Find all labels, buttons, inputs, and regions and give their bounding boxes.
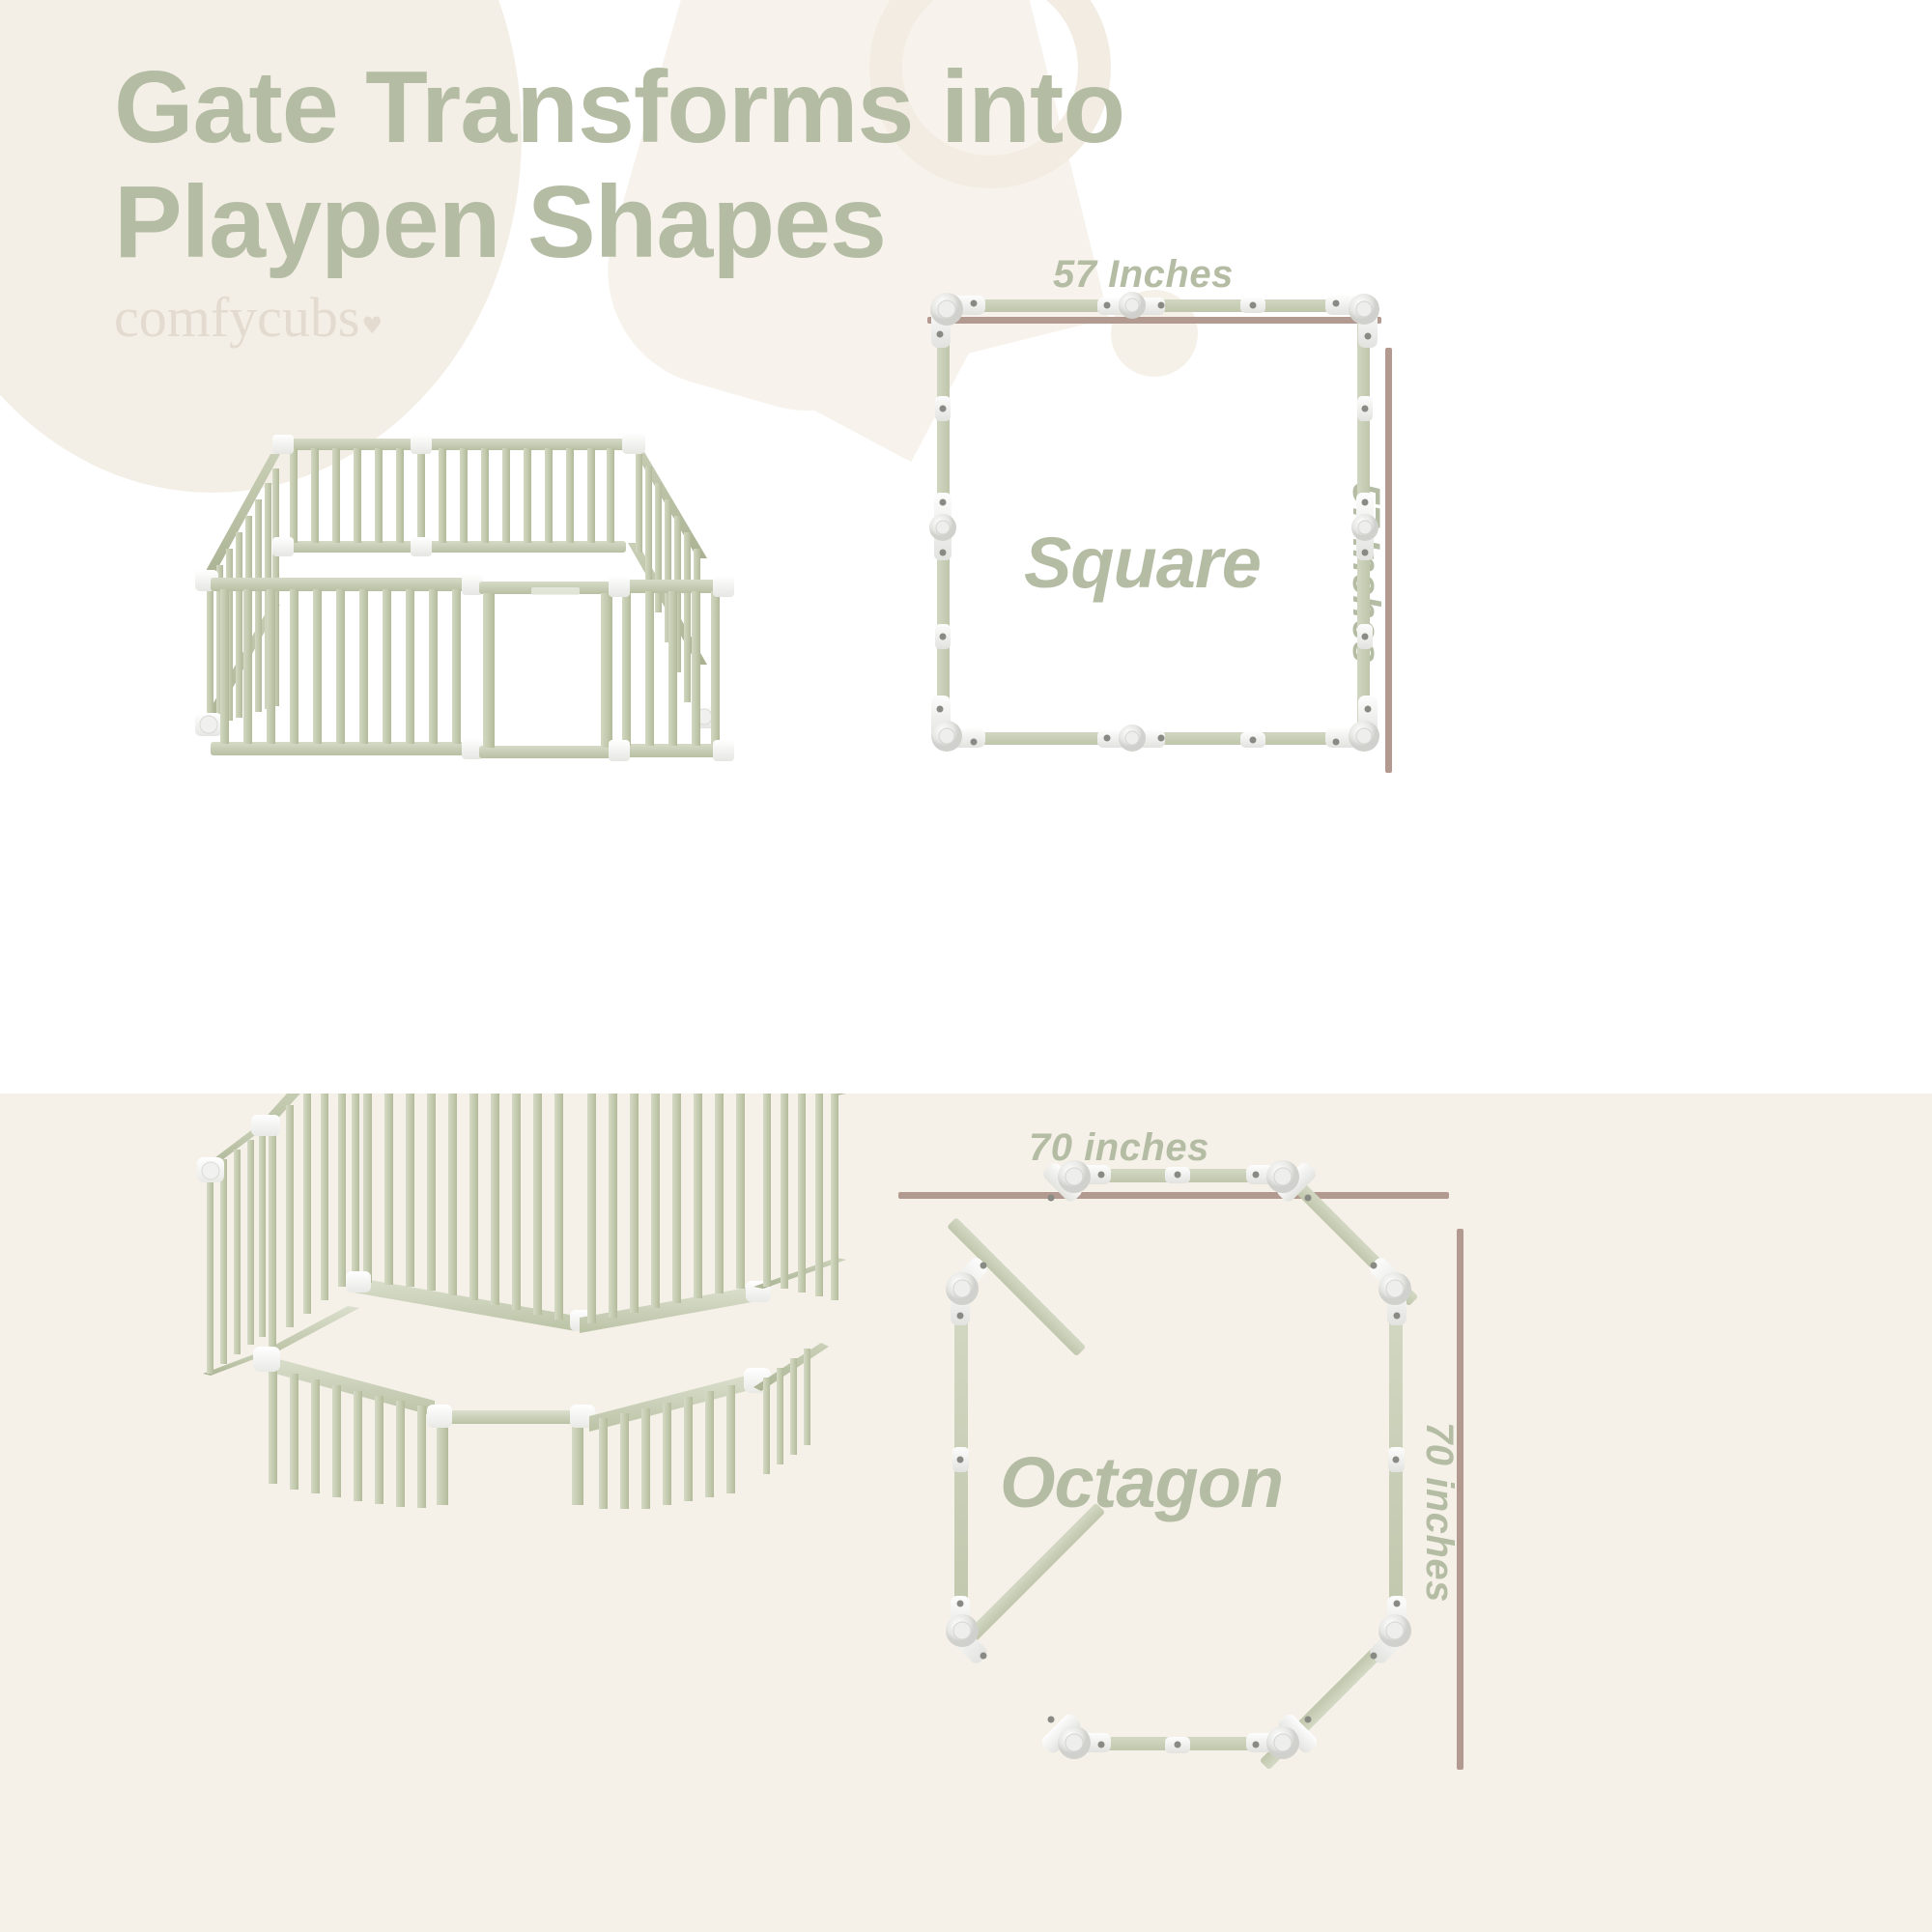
infographic-root: Gate Transforms into Playpen Shapes comf… <box>0 0 1932 1932</box>
square-section: Gate Transforms into Playpen Shapes comf… <box>0 0 1932 1094</box>
hinge-top-right <box>1325 294 1379 348</box>
panel-front-gate <box>479 582 616 758</box>
brand-logo: comfycubs ♥ <box>114 290 383 346</box>
hinge-vertex-rb <box>1367 1596 1411 1666</box>
brand-name: comfycubs <box>114 290 360 346</box>
hinge-vertex-rt <box>1367 1255 1411 1325</box>
hinge-vertex-tl <box>1040 1160 1111 1205</box>
connector-right-mid <box>1351 493 1378 560</box>
octagon-panel-center-left <box>346 1094 595 1331</box>
square-frame-svg <box>908 241 1410 802</box>
panel-front-right <box>609 576 734 761</box>
octagon-panel-front-gate <box>427 1405 595 1505</box>
octagon-frame-svg <box>898 1113 1478 1808</box>
octagon-vertex-hinges <box>946 1160 1411 1759</box>
connector-bottom-mid <box>1097 724 1165 752</box>
octagon-playpen-photo <box>145 1094 879 1509</box>
page-title-line-1: Gate Transforms into <box>114 50 1302 165</box>
hinge-bottom-left <box>931 696 985 752</box>
octagon-panel-far-right <box>753 1343 829 1474</box>
octagon-playpen-svg <box>145 1094 879 1509</box>
panel-back <box>272 435 626 556</box>
square-playpen-photo <box>164 415 831 802</box>
square-playpen-svg <box>164 415 831 802</box>
hinge-top-left <box>930 293 985 348</box>
hinge-bottom-right <box>1325 696 1379 752</box>
heart-icon: ♥ <box>362 314 384 337</box>
hinge-vertex-bl <box>1039 1712 1111 1759</box>
octagon-section: 70 inches 70 inches Octagon <box>0 1094 1932 1932</box>
octagon-mid-brackets <box>952 1167 1405 1753</box>
octagon-panel-front-left <box>253 1347 435 1508</box>
octagon-panel-front-right <box>589 1368 771 1509</box>
octagon-panel-right-upper <box>753 1094 846 1300</box>
hinge-vertex-lt <box>946 1255 990 1325</box>
hinge-vertex-br <box>1246 1712 1320 1759</box>
panel-front-left <box>211 574 483 759</box>
connector-left-mid <box>929 493 956 560</box>
square-top-down-diagram: 57 Inches 57 Inches Square <box>908 241 1874 840</box>
octagon-top-down-diagram: 70 inches 70 inches Octagon <box>898 1113 1884 1886</box>
connector-top-mid <box>1097 292 1165 319</box>
hinge-vertex-tr <box>1246 1160 1319 1205</box>
octagon-panel-center-right <box>580 1094 771 1333</box>
